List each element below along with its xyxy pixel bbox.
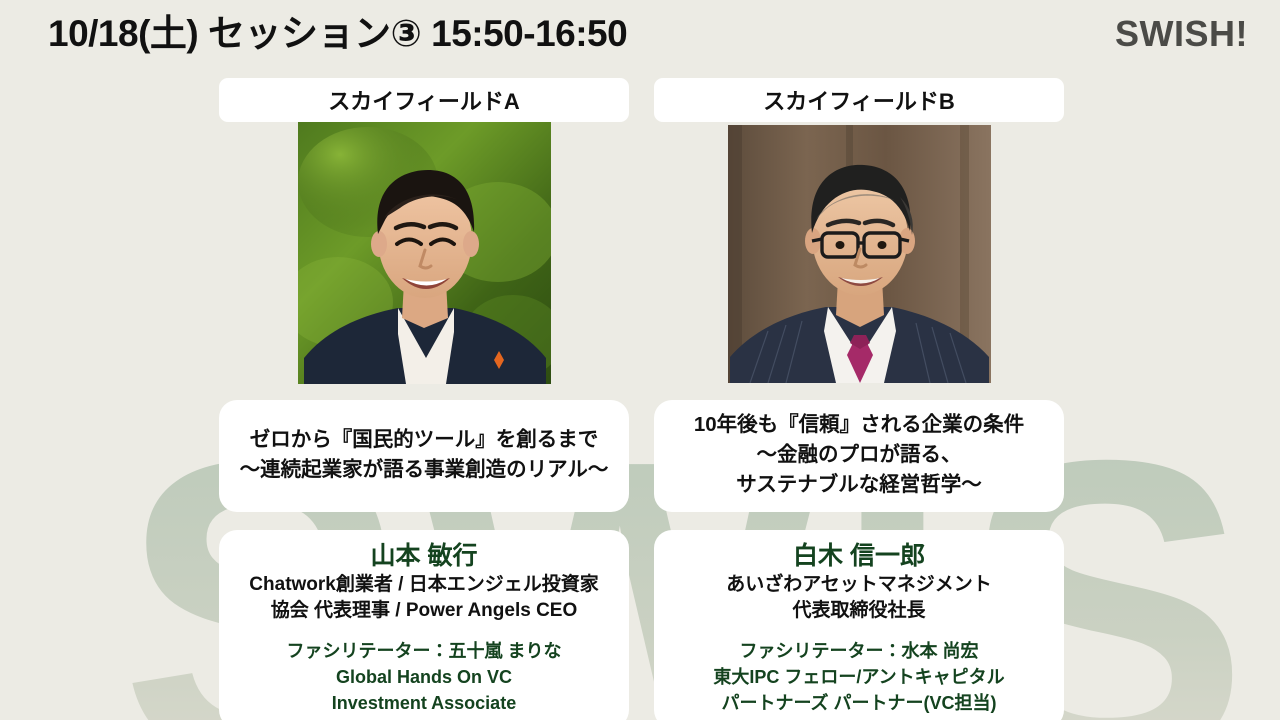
speaker-affiliation-b: あいざわアセットマネジメント 代表取締役社長 bbox=[662, 572, 1056, 624]
brand-logo: SWISH! bbox=[1115, 10, 1248, 58]
speaker-affiliation-a: Chatwork創業者 / 日本エンジェル投資家 協会 代表理事 / Power… bbox=[227, 572, 621, 624]
room-tab-a[interactable]: スカイフィールドA bbox=[219, 78, 629, 122]
session-title-card-b: 10年後も『信頼』される企業の条件 〜金融のプロが語る、 サステナブルな経営哲学… bbox=[654, 400, 1064, 512]
speaker-photo-a bbox=[298, 122, 551, 384]
slide-header: 10/18(土) セッション③ 15:50-16:50 SWISH! bbox=[0, 0, 1280, 70]
speaker-name-a: 山本 敏行 bbox=[227, 540, 621, 572]
session-title-text-b: 10年後も『信頼』される企業の条件 〜金融のプロが語る、 サステナブルな経営哲学… bbox=[694, 410, 1024, 500]
session-column-b: スカイフィールドB bbox=[654, 78, 1064, 720]
speaker-info-card-a: 山本 敏行 Chatwork創業者 / 日本エンジェル投資家 協会 代表理事 /… bbox=[219, 530, 629, 720]
session-title-card-a: ゼロから『国民的ツール』を創るまで 〜連続起業家が語る事業創造のリアル〜 bbox=[219, 400, 629, 512]
page-title: 10/18(土) セッション③ 15:50-16:50 bbox=[48, 8, 627, 60]
facilitator-info-b: ファシリテーター：水本 尚宏 東大IPC フェロー/アントキャピタル パートナー… bbox=[662, 638, 1056, 716]
speaker-photo-b bbox=[728, 125, 991, 383]
session-title-text-a: ゼロから『国民的ツール』を創るまで 〜連続起業家が語る事業創造のリアル〜 bbox=[240, 425, 609, 485]
room-tab-b[interactable]: スカイフィールドB bbox=[654, 78, 1064, 122]
speaker-info-card-b: 白木 信一郎 あいざわアセットマネジメント 代表取締役社長 ファシリテーター：水… bbox=[654, 530, 1064, 720]
speaker-name-b: 白木 信一郎 bbox=[662, 540, 1056, 572]
facilitator-info-a: ファシリテーター：五十嵐 まりな Global Hands On VC Inve… bbox=[227, 638, 621, 716]
session-column-a: スカイフィールドA bbox=[219, 78, 629, 720]
slide-root: SWISH! 10/18(土) セッション③ 15:50-16:50 SWISH… bbox=[0, 0, 1280, 720]
background-watermark: SWISH! bbox=[0, 0, 1280, 720]
